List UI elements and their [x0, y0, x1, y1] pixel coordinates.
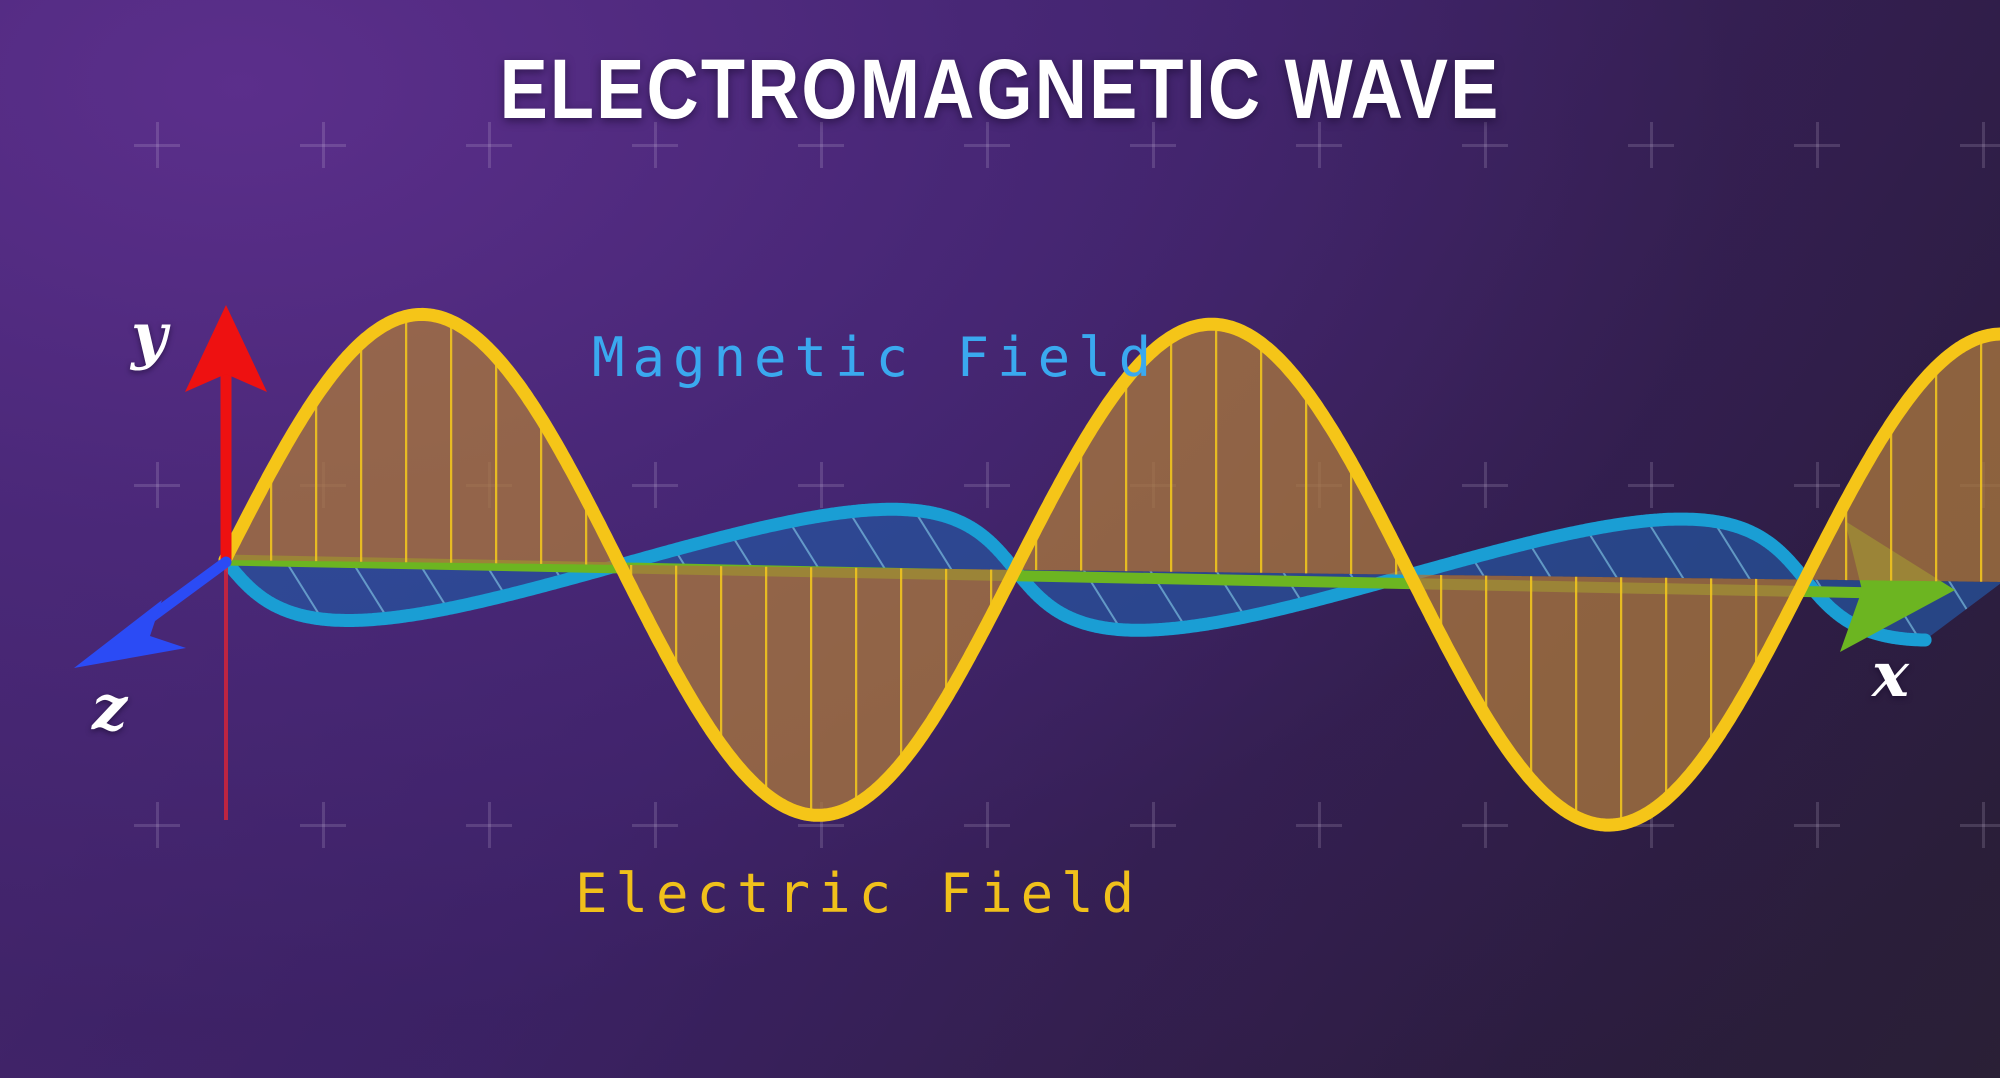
wave-scene: Magnetic Field Electric Field y z x: [0, 0, 2000, 1078]
magnetic-field-label: Magnetic Field: [592, 326, 1159, 389]
y-axis-label: y: [131, 299, 167, 372]
electric-field-label: Electric Field: [575, 862, 1142, 925]
electromagnetic-wave-illustration: ELECTROMAGNETIC WAVE: [0, 0, 2000, 1078]
axis-z: [74, 562, 226, 668]
z-axis-label: z: [92, 671, 127, 744]
x-axis-label: x: [1872, 638, 1909, 711]
